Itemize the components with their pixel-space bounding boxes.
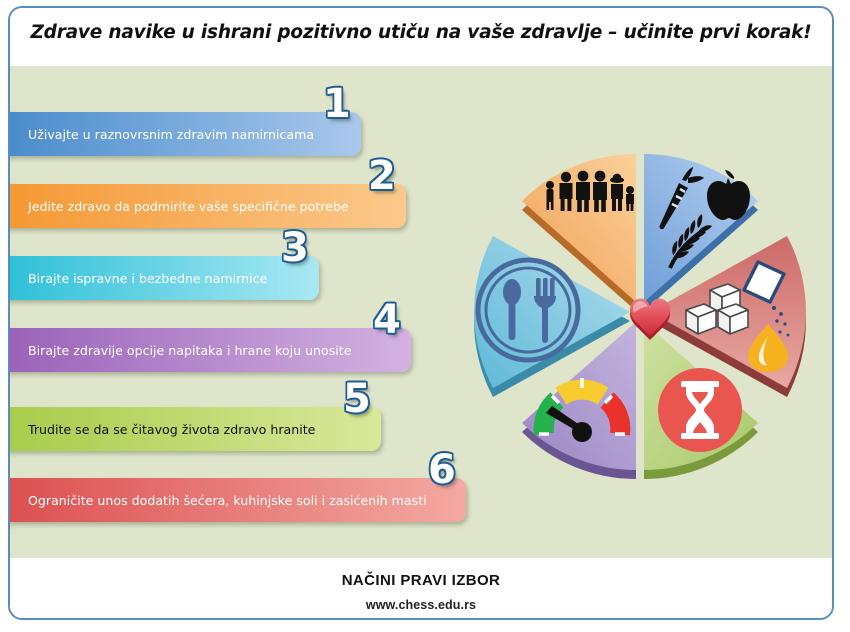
step-bar-label: Uživajte u raznovrsnim zdravim namirnica… [28, 112, 314, 156]
footer-band: NAČINI PRAVI IZBOR www.chess.edu.rs [10, 558, 832, 620]
step-bar-2[interactable]: Jedite zdravo da podmirite vaše specifič… [8, 184, 406, 228]
step-bar-6[interactable]: Ograničite unos dodatih šećera, kuhinjsk… [8, 478, 466, 522]
page-title: Zdrave navike u ishrani pozitivno utiču … [10, 22, 832, 43]
infographic-poster: Zdrave navike u ishrani pozitivno utiču … [8, 6, 834, 620]
step-number-4: 4 [373, 300, 401, 340]
step-number-1: 1 [323, 84, 351, 124]
step-bar-1[interactable]: Uživajte u raznovrsnim zdravim namirnica… [8, 112, 361, 156]
step-bar-3[interactable]: Birajte ispravne i bezbedne namirnice [8, 256, 319, 300]
title-band: Zdrave navike u ishrani pozitivno utiču … [10, 8, 832, 66]
step-bar-label: Birajte ispravne i bezbedne namirnice [28, 256, 267, 300]
step-bar-label: Birajte zdravije opcije napitaka i hrane… [28, 328, 352, 372]
step-number-2: 2 [368, 156, 396, 196]
step-bar-label: Jedite zdravo da podmirite vaše specifič… [28, 184, 349, 228]
step-number-5: 5 [343, 379, 371, 419]
footer-url[interactable]: www.chess.edu.rs [10, 598, 832, 612]
plate-cutlery-icon [474, 256, 582, 364]
health-wheel [450, 126, 830, 506]
heart-icon [627, 296, 673, 340]
step-bar-5[interactable]: Trudite se da se čitavog života zdravo h… [8, 407, 381, 451]
step-bar-label: Trudite se da se čitavog života zdravo h… [28, 407, 315, 451]
footer-heading: NAČINI PRAVI IZBOR [10, 572, 832, 589]
step-bar-4[interactable]: Birajte zdravije opcije napitaka i hrane… [8, 328, 411, 372]
step-bar-label: Ograničite unos dodatih šećera, kuhinjsk… [28, 478, 427, 522]
step-number-3: 3 [281, 228, 309, 268]
